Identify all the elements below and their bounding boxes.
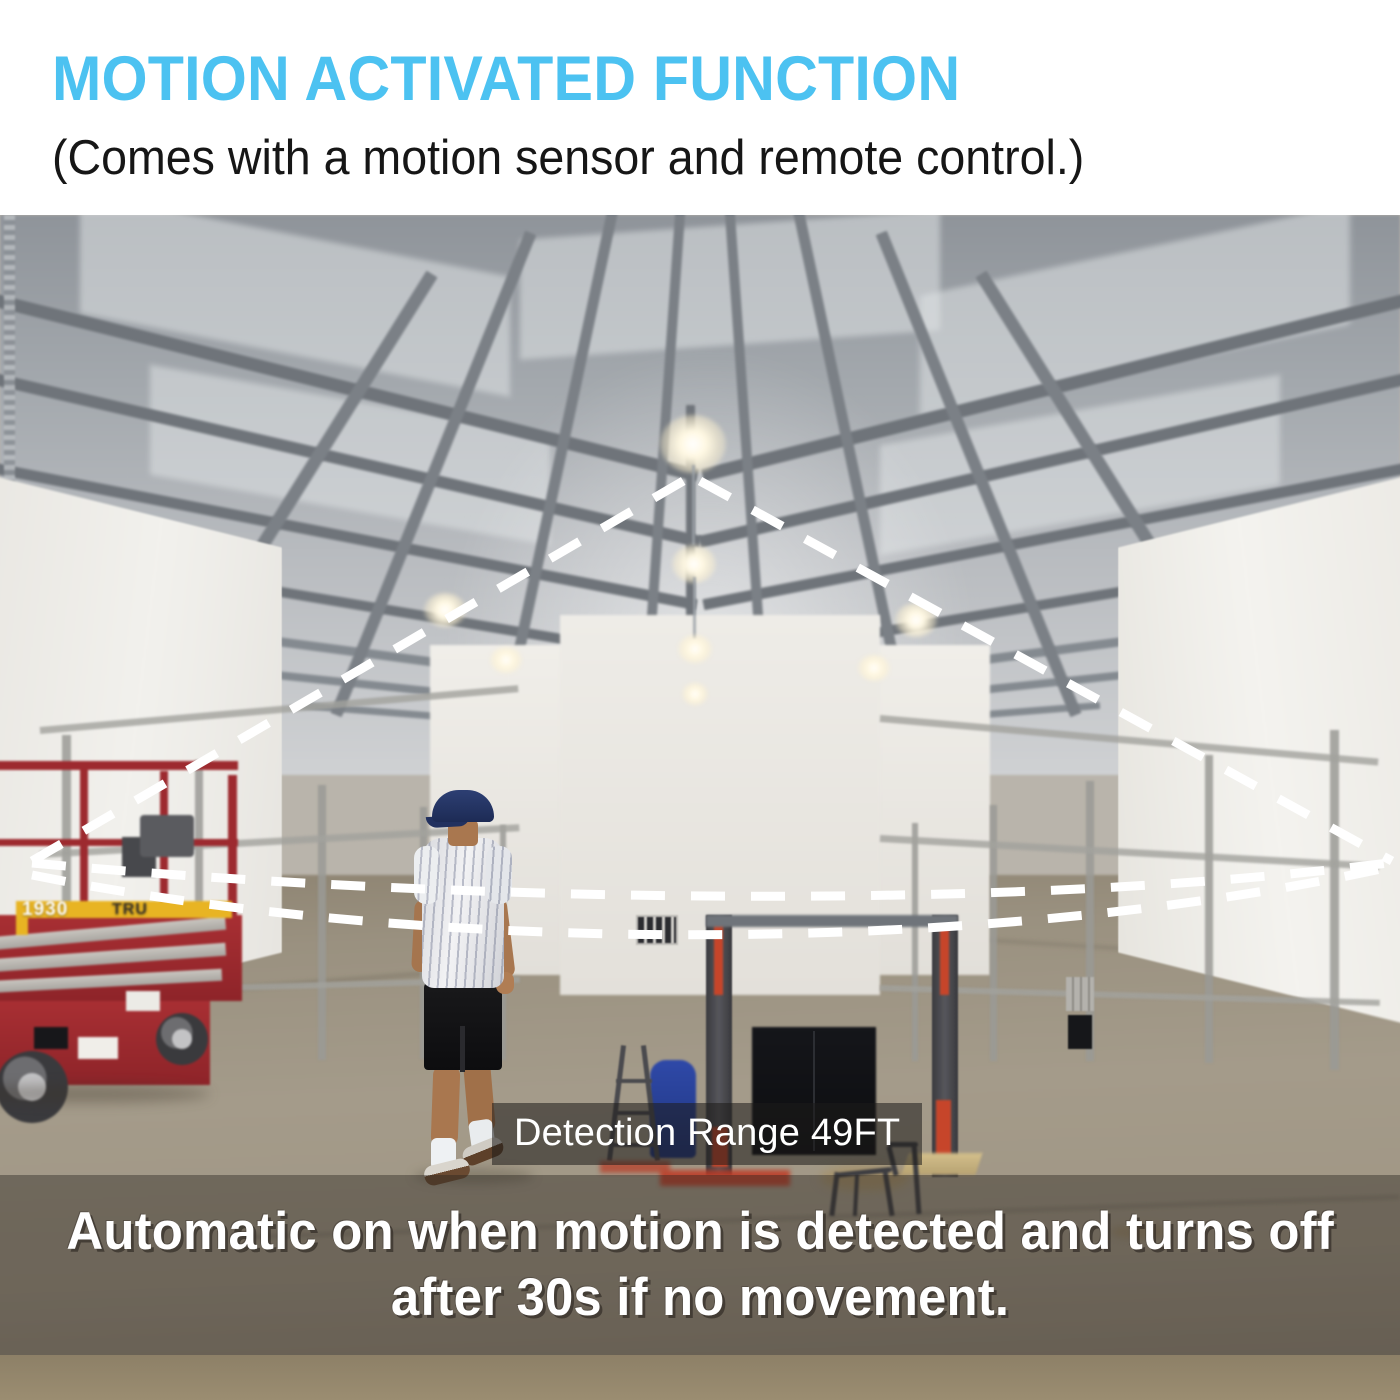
cone-edge-upper-left (32, 477, 690, 861)
page-subtitle: (Comes with a motion sensor and remote c… (52, 129, 1084, 187)
page-title: MOTION ACTIVATED FUNCTION (52, 46, 960, 112)
cone-edge-upper-right (700, 481, 1392, 861)
detection-cone-lines (32, 477, 1392, 935)
product-feature-slide: MOTION ACTIVATED FUNCTION (Comes with a … (0, 0, 1400, 1400)
caption-text: Automatic on when motion is detected and… (0, 1175, 1400, 1355)
header-band: MOTION ACTIVATED FUNCTION (Comes with a … (0, 0, 1400, 215)
warehouse-photo: 1930 TRU (0, 215, 1400, 1400)
detection-range-label: Detection Range 49FT (492, 1103, 922, 1165)
caption-line-2: after 30s if no movement. (391, 1265, 1009, 1331)
bottom-floor-strip (0, 1355, 1400, 1400)
cone-edge-mid (32, 863, 1388, 896)
caption-line-1: Automatic on when motion is detected and… (66, 1199, 1334, 1265)
